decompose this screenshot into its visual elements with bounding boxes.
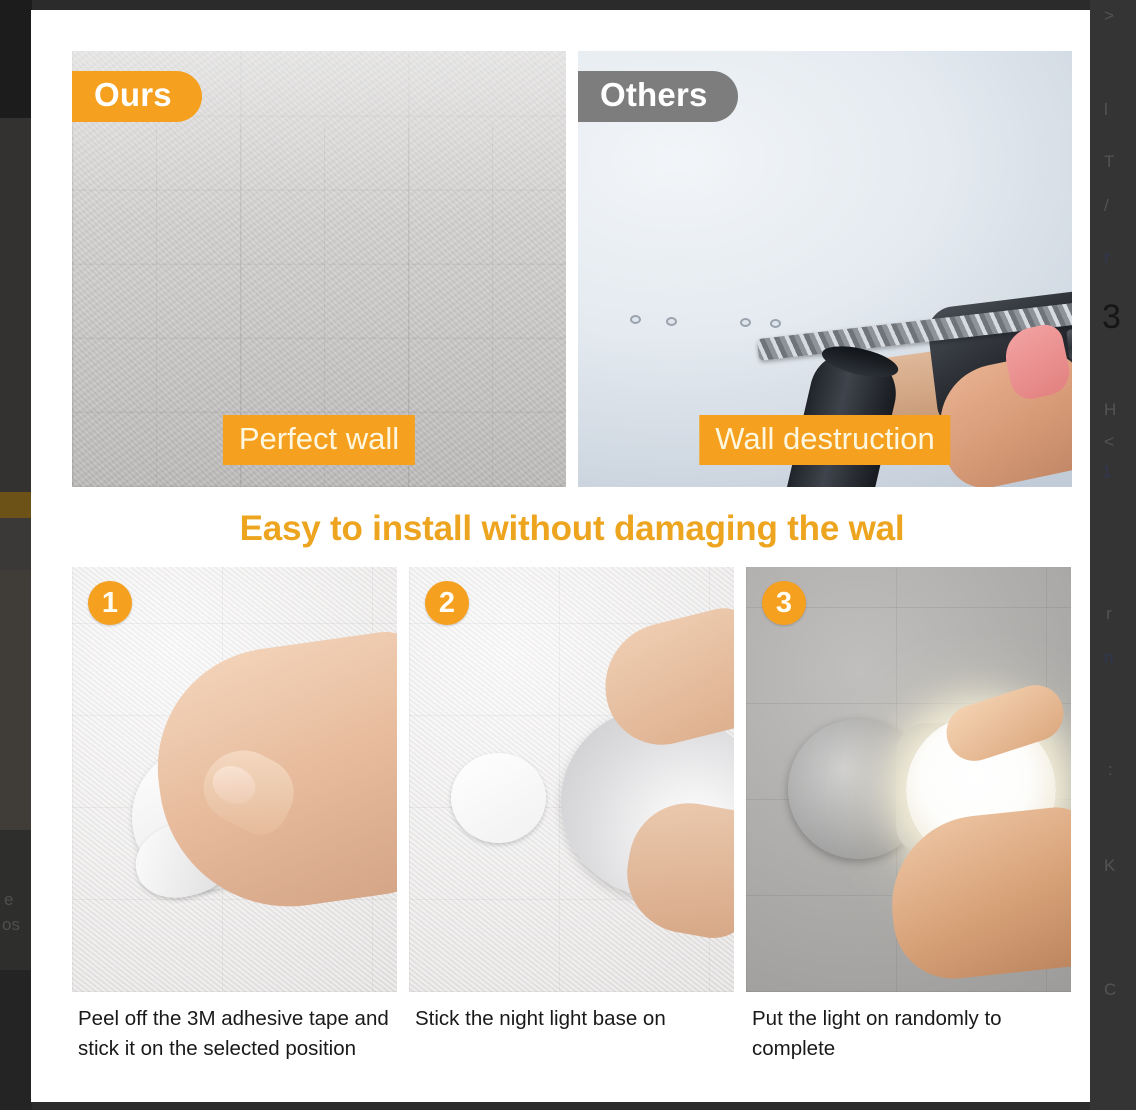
background-page-left-sliver: e os <box>0 0 32 1110</box>
comparison-card-others: Others Wall destruction <box>578 51 1072 487</box>
step-number-badge: 2 <box>425 581 469 625</box>
background-page-right-sliver: > l T / r 3 H < 1 r n : K C <box>1090 0 1136 1110</box>
step-number-badge: 3 <box>762 581 806 625</box>
step-item: 2 Stick the night light base on <box>409 567 734 1063</box>
caption-perfect-wall: Perfect wall <box>223 415 415 465</box>
installation-steps-row: 1 Peel off the 3M adhesive tape and stic… <box>72 567 1072 1063</box>
step-1-photo: 1 <box>72 567 397 992</box>
step-item: 1 Peel off the 3M adhesive tape and stic… <box>72 567 397 1063</box>
step-caption: Stick the night light base on <box>409 992 734 1034</box>
step-caption: Put the light on randomly to complete <box>746 992 1071 1063</box>
product-detail-content: Ours Perfect wall <box>72 51 1072 1063</box>
mounted-pad-shape <box>451 753 546 843</box>
lightbox-panel: Ours Perfect wall <box>31 10 1090 1102</box>
badge-others: Others <box>578 71 738 122</box>
comparison-card-ours: Ours Perfect wall <box>72 51 566 487</box>
step-caption: Peel off the 3M adhesive tape and stick … <box>72 992 397 1063</box>
comparison-row: Ours Perfect wall <box>72 51 1072 487</box>
step-3-photo: 3 <box>746 567 1071 992</box>
page-headline: Easy to install without damaging the wal <box>72 487 1072 567</box>
step-item: 3 Put the light on randomly to complete <box>746 567 1071 1063</box>
step-number-badge: 1 <box>88 581 132 625</box>
caption-wall-destruction: Wall destruction <box>699 415 950 465</box>
step-2-photo: 2 <box>409 567 734 992</box>
badge-ours: Ours <box>72 71 202 122</box>
